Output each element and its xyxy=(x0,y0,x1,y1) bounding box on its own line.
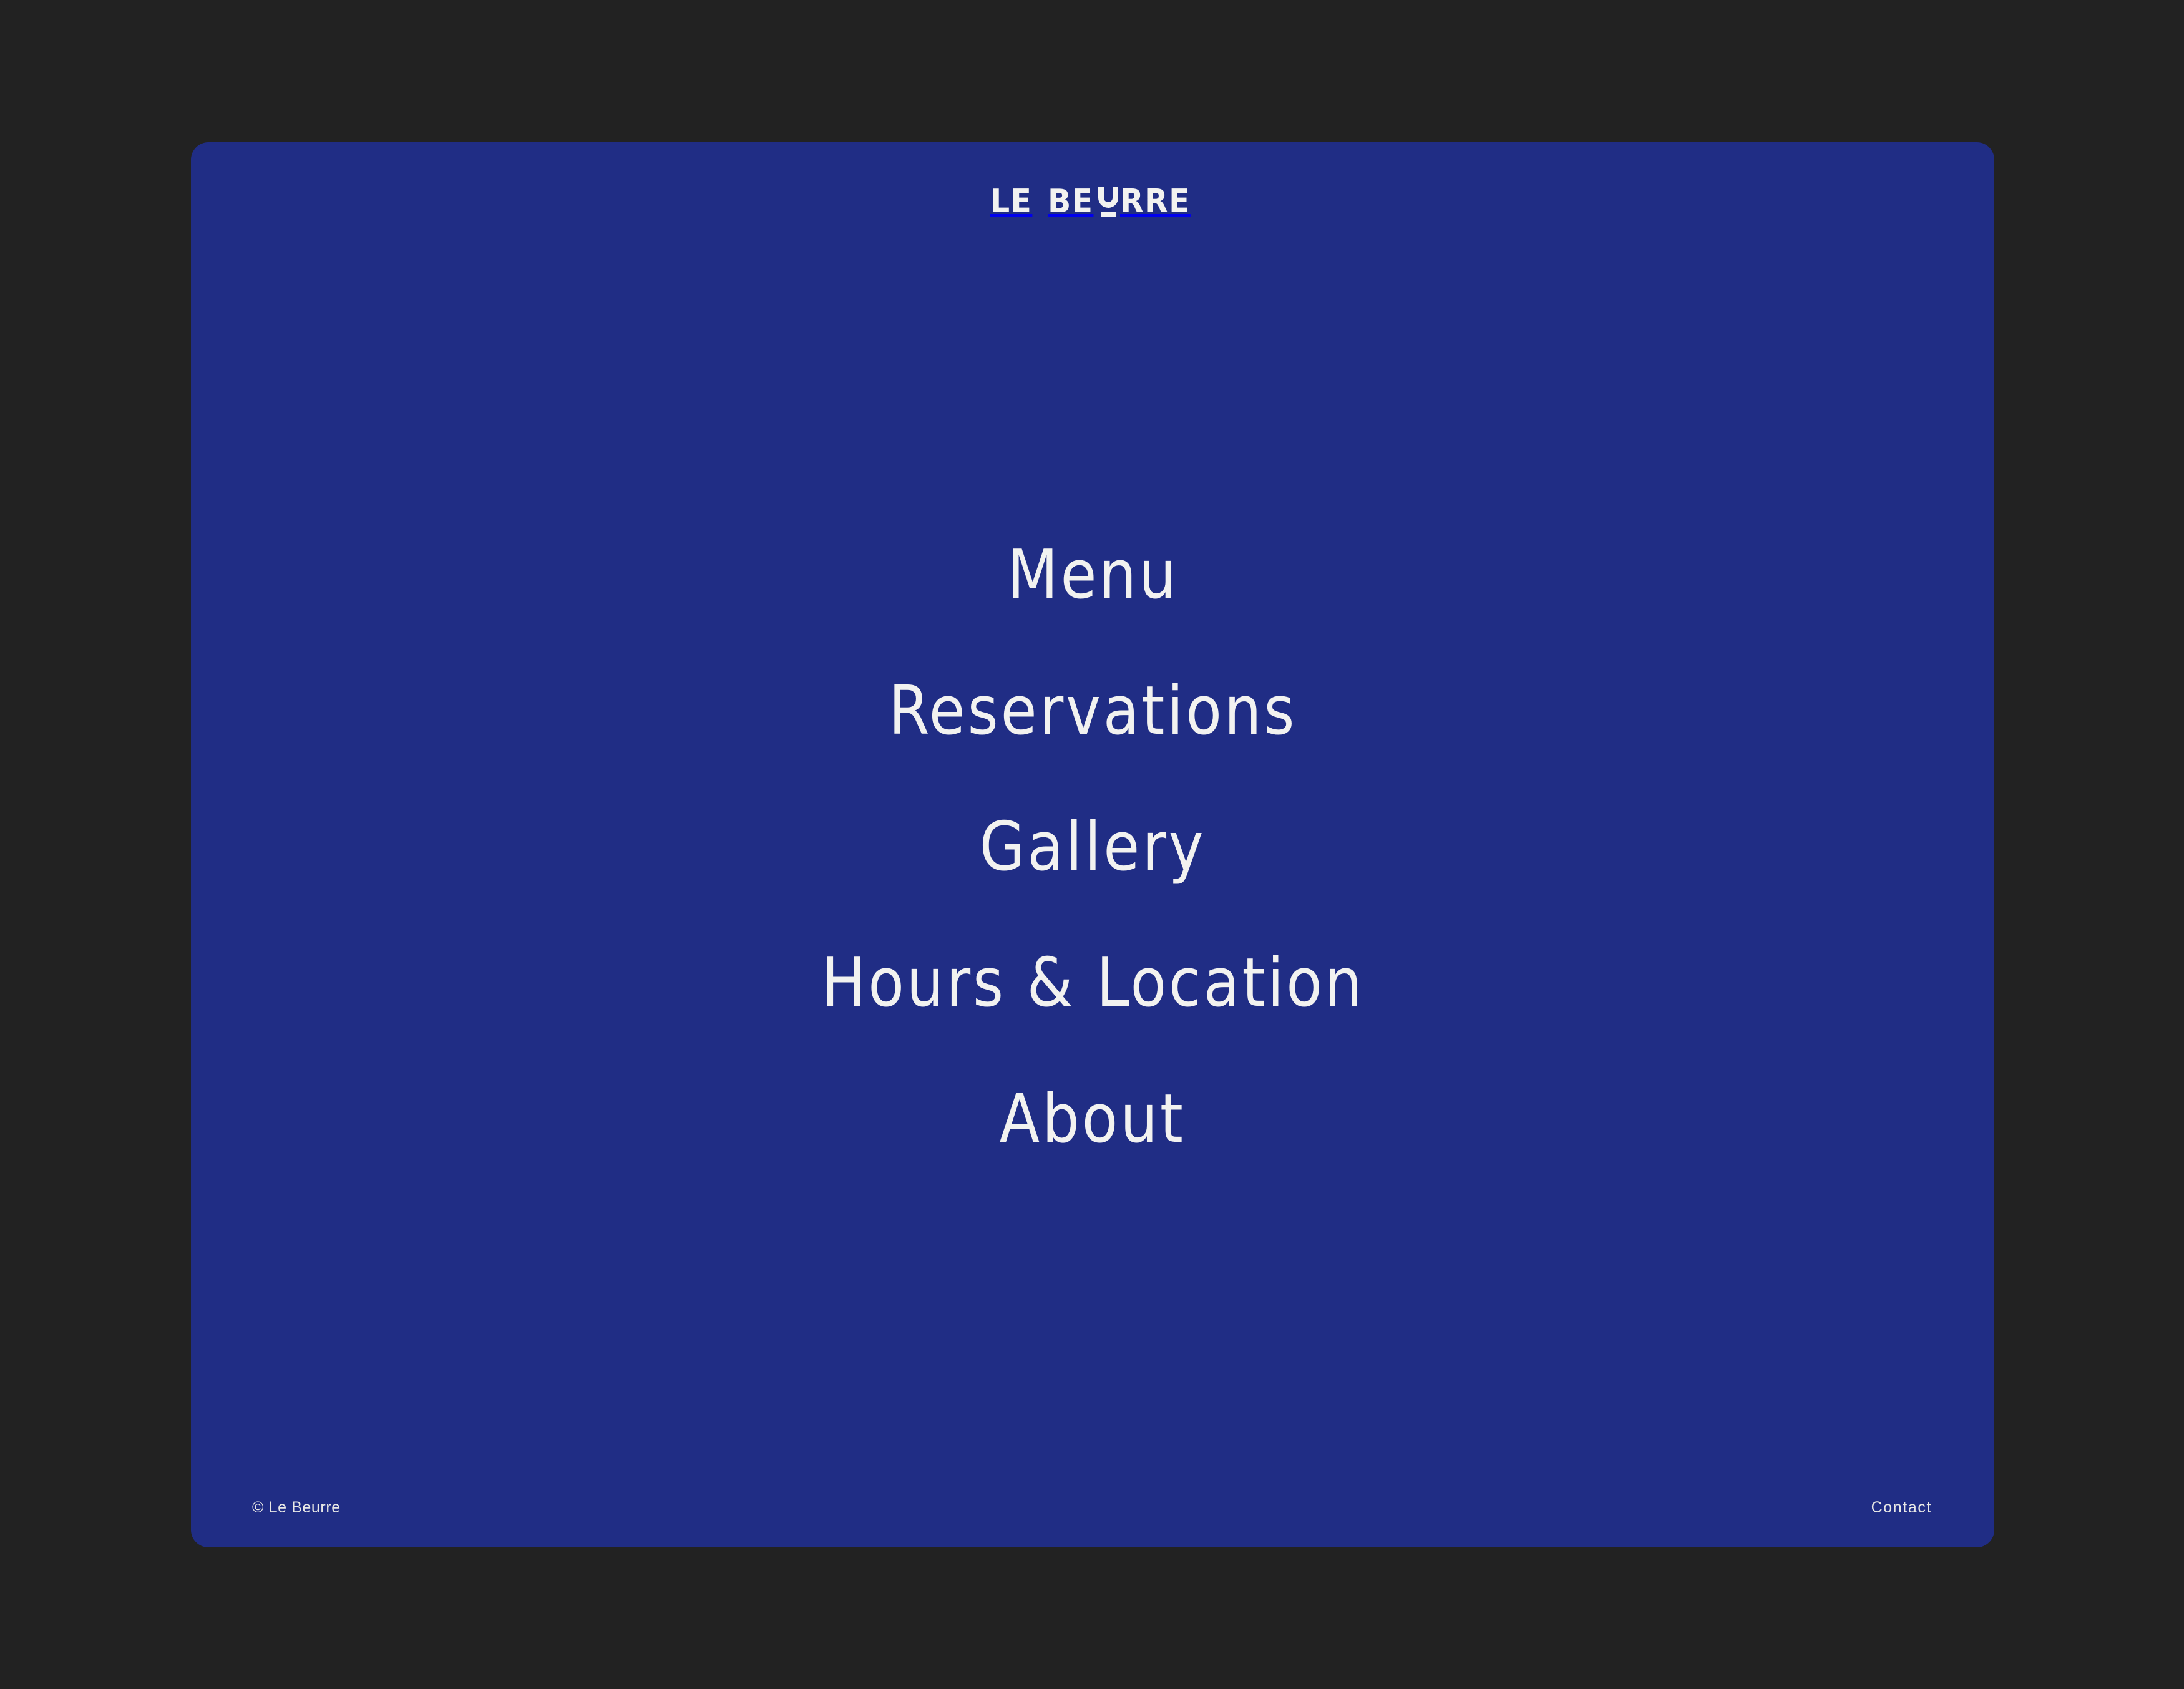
nav-item-gallery[interactable]: Gallery xyxy=(980,814,1206,881)
main-navigation: Menu Reservations Gallery Hours & Locati… xyxy=(191,542,1994,1153)
site-footer: © Le Beurre Contact xyxy=(252,1495,1932,1520)
page-root: LE BE RRE Menu Reservations Gallery Hour… xyxy=(0,0,2184,1689)
logo-text-le: LE xyxy=(990,185,1032,218)
nav-item-hours-location[interactable]: Hours & Location xyxy=(821,950,1364,1017)
logo-u-arch-icon xyxy=(1097,185,1119,218)
logo-text-rre: RRE xyxy=(1120,185,1191,218)
logo-text-be: BE xyxy=(1048,185,1093,218)
logo-le-beurre[interactable]: LE BE RRE xyxy=(990,185,1195,218)
nav-item-reservations[interactable]: Reservations xyxy=(889,678,1297,745)
nav-item-about[interactable]: About xyxy=(1000,1086,1186,1153)
site-header: LE BE RRE xyxy=(191,142,1994,261)
copyright-text: © Le Beurre xyxy=(252,1500,341,1516)
nav-item-menu[interactable]: Menu xyxy=(1007,542,1178,609)
main-card: LE BE RRE Menu Reservations Gallery Hour… xyxy=(191,142,1994,1547)
contact-link[interactable]: Contact xyxy=(1871,1500,1932,1516)
